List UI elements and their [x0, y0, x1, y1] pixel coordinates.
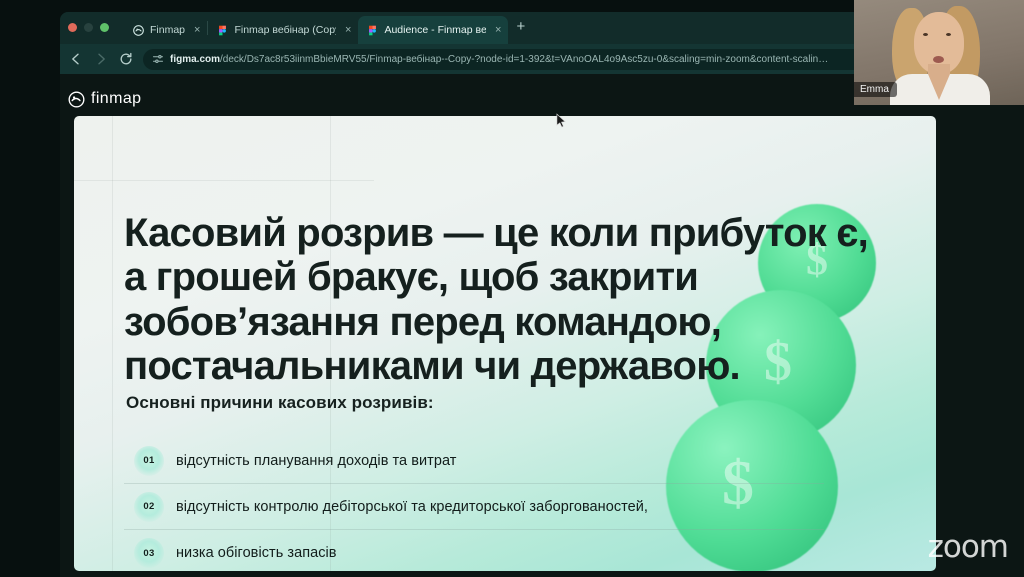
list-item: 01 відсутність планування доходів та вит… — [124, 438, 824, 484]
tab-label: Finmap вебінар (Copy) – Fig — [234, 24, 336, 36]
tab-label: Audience - Finmap вебінар ( — [384, 24, 486, 36]
participant-mouth — [933, 56, 944, 63]
forward-arrow-icon[interactable] — [93, 51, 109, 67]
url-text: figma.com/deck/Ds7ac8r53iinmBbieMRV55/Fi… — [170, 54, 828, 65]
reasons-list: 01 відсутність планування доходів та вит… — [124, 438, 824, 571]
tune-icon[interactable] — [152, 53, 164, 65]
tab-close-icon[interactable]: × — [194, 24, 200, 36]
participant-eye-left — [923, 33, 928, 36]
maximize-window-button[interactable] — [100, 23, 109, 32]
tab-finmap[interactable]: Finmap × — [124, 16, 207, 44]
screen-root: Finmap × Finmap вебінар (Copy) – Fig × — [0, 0, 1024, 577]
participant-eye-right — [946, 33, 951, 36]
figma-icon — [367, 25, 378, 36]
figma-icon — [217, 25, 228, 36]
finmap-icon — [133, 25, 144, 36]
close-window-button[interactable] — [68, 23, 77, 32]
url-path: /deck/Ds7ac8r53iinmBbieMRV55/Finmap-вебі… — [220, 54, 828, 65]
slide-headline: Касовий розрив — це коли прибуток є, а г… — [124, 211, 884, 389]
reload-icon[interactable] — [118, 51, 134, 67]
tab-close-icon[interactable]: × — [495, 24, 501, 36]
mouse-cursor — [556, 113, 567, 129]
list-item-number: 02 — [134, 492, 164, 522]
list-item-label: відсутність планування доходів та витрат — [176, 453, 456, 469]
web-page: finmap $ $ $ Касовий розри — [60, 74, 1024, 577]
tab-close-icon[interactable]: × — [345, 24, 351, 36]
address-bar[interactable]: figma.com/deck/Ds7ac8r53iinmBbieMRV55/Fi… — [143, 49, 906, 70]
slide-subheading: Основні причини касових розривів: — [126, 393, 434, 413]
list-item: 03 низка обіговість запасів — [124, 530, 824, 571]
video-participant-tile[interactable]: Emma — [854, 0, 1024, 105]
list-item: 02 відсутність контролю дебіторської та … — [124, 484, 824, 530]
window-controls[interactable] — [68, 23, 109, 32]
presentation-slide[interactable]: $ $ $ Касовий розрив — це коли прибуток … — [74, 116, 936, 571]
list-item-label: відсутність контролю дебіторської та кре… — [176, 499, 648, 515]
minimize-window-button[interactable] — [84, 23, 93, 32]
url-domain: figma.com — [170, 54, 220, 65]
brand-name: finmap — [91, 90, 141, 108]
tab-label: Finmap — [150, 24, 185, 36]
zoom-watermark: zoom — [928, 529, 1008, 565]
tab-finmap-webinar-copy[interactable]: Finmap вебінар (Copy) – Fig × — [208, 16, 358, 44]
tab-audience-finmap-webinar[interactable]: Audience - Finmap вебінар ( × — [358, 16, 508, 44]
new-tab-button[interactable]: + — [508, 18, 533, 39]
list-item-number: 01 — [134, 446, 164, 476]
participant-name-label: Emma — [854, 82, 897, 97]
list-item-number: 03 — [134, 538, 164, 568]
finmap-logo-icon — [68, 91, 85, 108]
back-arrow-icon[interactable] — [68, 51, 84, 67]
list-item-label: низка обіговість запасів — [176, 545, 337, 561]
